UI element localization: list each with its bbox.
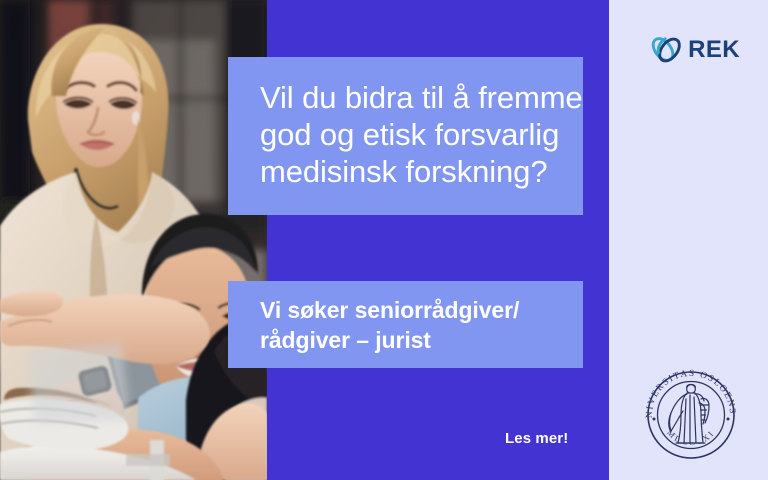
headline-line-2: god og etisk forsvarlig — [260, 116, 557, 153]
job-title-line-2: rådgiver – jurist — [260, 325, 563, 355]
job-advert-banner: Vil du bidra til å fremme god og etisk f… — [0, 0, 768, 480]
headline-card: Vil du bidra til å fremme god og etisk f… — [228, 57, 583, 215]
photo-illustration — [0, 0, 267, 480]
rek-logo[interactable]: REK — [648, 28, 740, 72]
job-title-line-1: Vi søker seniorrådgiver/ — [260, 295, 563, 325]
headline-line-3: medisinsk forskning? — [260, 153, 557, 190]
headline-line-1: Vil du bidra til å fremme — [260, 79, 557, 116]
rek-wordmark: REK — [688, 38, 740, 62]
read-more-link[interactable]: Les mer! — [505, 430, 568, 447]
team-collaboration-photo — [0, 0, 267, 480]
uio-apollo-seal-icon: UNIVERSITAS OSLOENSIS MDCCCXI — [639, 363, 743, 467]
job-title-card: Vi søker seniorrådgiver/ rådgiver – juri… — [228, 281, 583, 368]
rek-interlocking-loops-icon — [648, 29, 684, 71]
